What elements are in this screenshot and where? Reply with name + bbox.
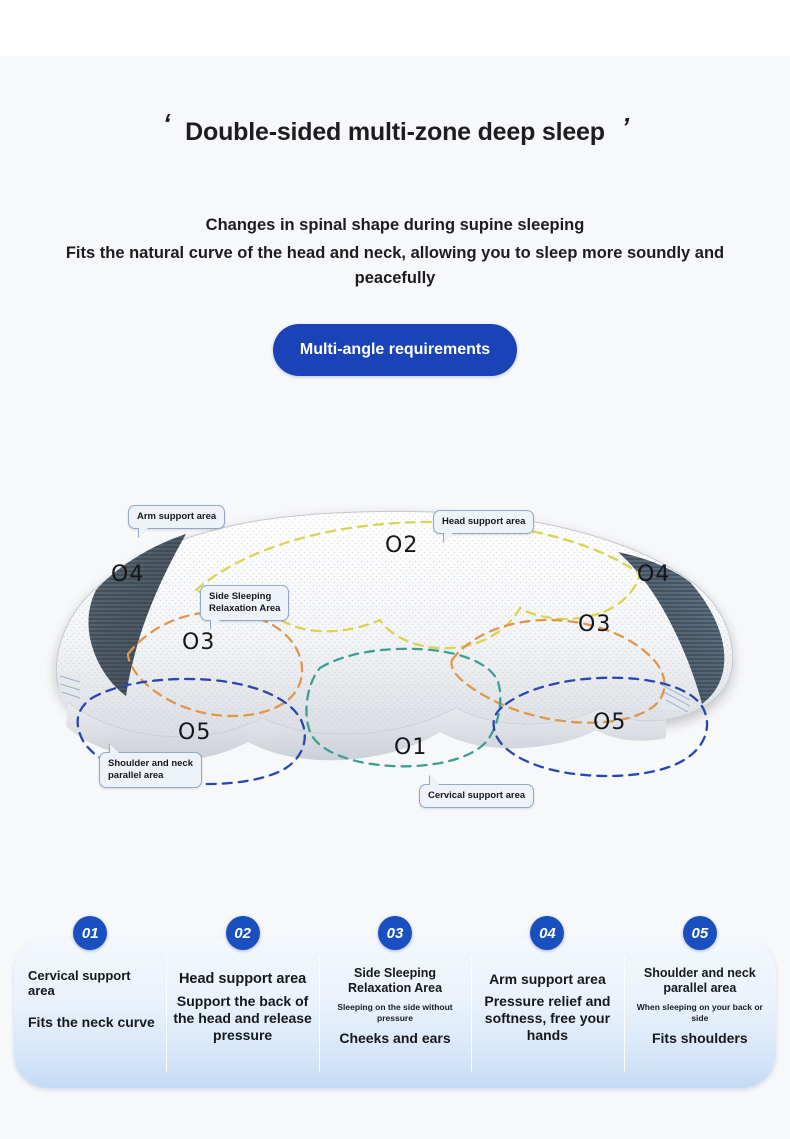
legend-highlight-05: Fits shoulders (652, 1030, 748, 1047)
legend-title-03: Side Sleeping Relaxation Area (325, 966, 465, 996)
legend-badge-02: 02 (226, 916, 260, 950)
product-infographic-page: ‘ Double-sided multi-zone deep sleep ’ C… (0, 0, 790, 1139)
callout-arm-support-area[interactable]: Arm support area (128, 505, 225, 529)
callout-head-support-area[interactable]: Head support area (433, 510, 534, 534)
zone-number-04-right: O4 (637, 562, 670, 587)
zone-number-03-left: O3 (182, 630, 215, 655)
zone-legend-panel: 01 Cervical support area Fits the neck c… (14, 938, 776, 1088)
legend-item-04[interactable]: 04 Arm support area Pressure relief and … (471, 938, 623, 1088)
zone-number-04-left: O4 (111, 562, 144, 587)
legend-item-02[interactable]: 02 Head support area Support the back of… (166, 938, 318, 1088)
quote-open-mark: ‘ (163, 108, 170, 139)
legend-title-04: Arm support area (489, 972, 606, 987)
quote-close-mark: ’ (622, 112, 629, 143)
legend-badge-04: 04 (530, 916, 564, 950)
subtitle-secondary: Fits the natural curve of the head and n… (65, 241, 725, 291)
page-title: ‘ Double-sided multi-zone deep sleep ’ (185, 118, 605, 147)
zone-number-02: O2 (385, 533, 418, 558)
legend-highlight-03: Cheeks and ears (339, 1030, 450, 1047)
legend-highlight-01: Fits the neck curve (20, 1014, 160, 1031)
pillow-diagram: O4 O4 O2 O3 O3 O5 O5 O1 Arm support area… (0, 470, 790, 860)
callout-side-sleeping-area[interactable]: Side Sleeping Relaxation Area (200, 585, 289, 621)
multi-angle-requirements-button[interactable]: Multi-angle requirements (273, 324, 517, 376)
zone-number-03-right: O3 (578, 612, 611, 637)
subtitle-primary: Changes in spinal shape during supine sl… (0, 216, 790, 235)
page-title-text: Double-sided multi-zone deep sleep (185, 118, 605, 146)
legend-note-03: Sleeping on the side without pressure (325, 1002, 465, 1024)
pillow-illustration (0, 470, 790, 860)
callout-cervical-support-area[interactable]: Cervical support area (419, 784, 534, 808)
legend-badge-05: 05 (683, 916, 717, 950)
top-white-strip (0, 0, 790, 56)
legend-note-05: When sleeping on your back or side (630, 1002, 770, 1024)
legend-item-05[interactable]: 05 Shoulder and neck parallel area When … (624, 938, 776, 1088)
callout-shoulder-neck-area[interactable]: Shoulder and neck parallel area (99, 752, 202, 788)
legend-badge-03: 03 (378, 916, 412, 950)
legend-title-01: Cervical support area (20, 968, 160, 998)
legend-title-02: Head support area (179, 972, 306, 987)
zone-number-05-left: O5 (178, 720, 211, 745)
legend-item-03[interactable]: 03 Side Sleeping Relaxation Area Sleepin… (319, 938, 471, 1088)
headline-section: ‘ Double-sided multi-zone deep sleep ’ (0, 118, 790, 147)
legend-highlight-02: Support the back of the head and release… (172, 993, 312, 1044)
legend-item-01[interactable]: 01 Cervical support area Fits the neck c… (14, 938, 166, 1088)
legend-highlight-04: Pressure relief and softness, free your … (477, 993, 617, 1044)
legend-badge-01: 01 (73, 916, 107, 950)
legend-title-05: Shoulder and neck parallel area (630, 966, 770, 996)
zone-number-05-right: O5 (593, 710, 626, 735)
zone-number-01: O1 (394, 735, 427, 760)
